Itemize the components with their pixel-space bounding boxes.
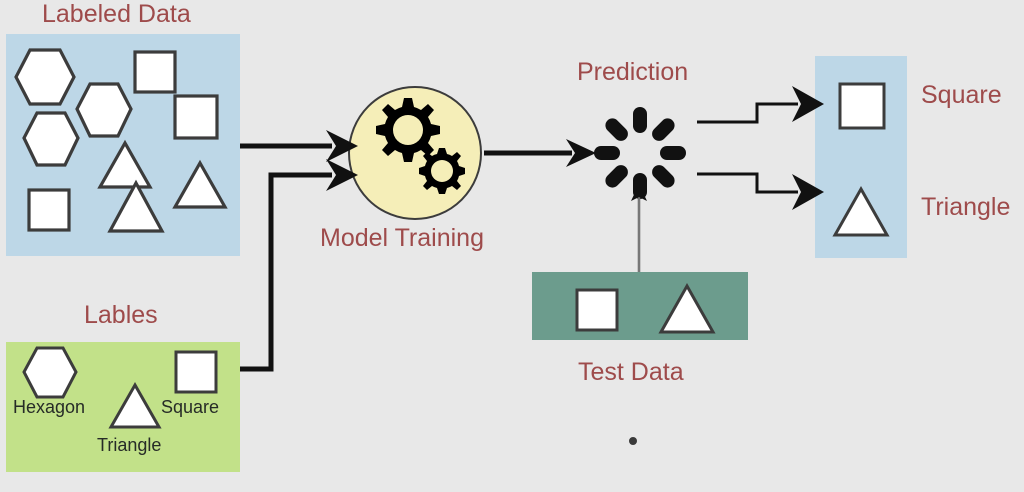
- output-label-triangle: Triangle: [921, 195, 1010, 220]
- labeled-data-square-3: [27, 188, 71, 232]
- test-data-caption: Test Data: [578, 360, 684, 385]
- labeled-data-caption: Labeled Data: [42, 2, 191, 27]
- connector-prediction-to-triangle: [697, 174, 824, 210]
- labeled-data-square-2: [173, 94, 219, 140]
- labels-square: [174, 350, 218, 394]
- labels-hexagon-text: Hexagon: [13, 398, 85, 416]
- connector-labeled-data-to-model: [240, 130, 358, 162]
- connector-labels-to-model: [240, 159, 358, 369]
- prediction-caption: Prediction: [577, 60, 688, 85]
- labels-square-text: Square: [161, 398, 219, 416]
- labels-caption: Lables: [84, 303, 158, 328]
- diagram-canvas: Labeled Data Lables Model Training Predi…: [0, 0, 1024, 492]
- labeled-data-hexagon-1: [14, 48, 76, 108]
- output-square: [838, 82, 886, 130]
- labeled-data-triangle-3: [107, 180, 165, 234]
- test-data-triangle: [658, 283, 716, 335]
- stray-dot: [629, 437, 637, 445]
- labeled-data-hexagon-3: [22, 111, 80, 168]
- connector-prediction-to-square: [697, 86, 824, 122]
- labels-triangle-text: Triangle: [97, 436, 161, 454]
- test-data-square: [575, 288, 619, 332]
- loading-spinner-icon: [592, 105, 688, 201]
- model-training-caption: Model Training: [320, 226, 484, 251]
- output-label-square: Square: [921, 83, 1002, 108]
- output-triangle: [832, 186, 890, 238]
- labeled-data-hexagon-2: [75, 82, 133, 139]
- labels-triangle: [108, 382, 162, 430]
- labels-hexagon: [22, 346, 78, 400]
- labeled-data-square-1: [133, 50, 177, 94]
- connector-model-to-prediction: [484, 139, 596, 167]
- gears-icon: [366, 90, 470, 200]
- labeled-data-triangle-2: [172, 160, 228, 210]
